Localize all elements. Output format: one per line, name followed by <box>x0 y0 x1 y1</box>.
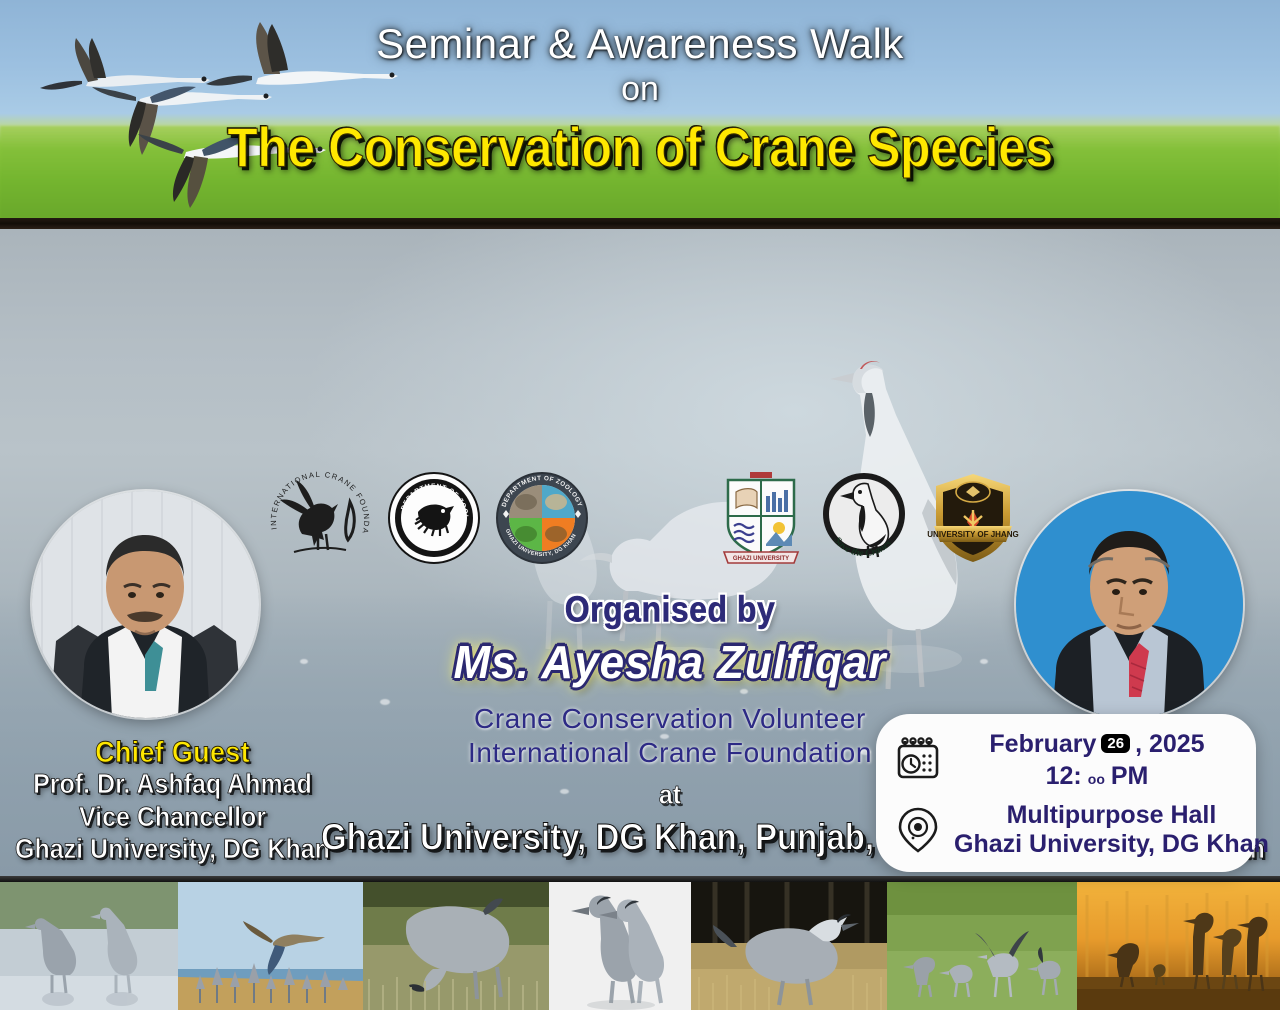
avatar-chief-guest <box>32 491 259 718</box>
page-title: The Conservation of Crane Species <box>0 115 1280 180</box>
event-year: , 2025 <box>1135 730 1205 759</box>
department-of-zoology-uoj-logo: DEPARTMENT OF ZOOLOGY UNIVERSITY OF JHAN… <box>388 472 480 564</box>
seminar-poster: Seminar & Awareness Walk on The Conserva… <box>0 0 1280 1010</box>
on-connector: on <box>0 70 1280 109</box>
event-month: February <box>989 730 1096 759</box>
header-text-group: Seminar & Awareness Walk on The Conserva… <box>0 22 1280 173</box>
event-date: February 26 , 2025 <box>954 730 1240 759</box>
event-time: 12: oo PM <box>954 762 1240 791</box>
event-time-meridiem: PM <box>1111 762 1149 791</box>
location-pin-icon <box>892 806 944 854</box>
venue-text: Multipurpose Hall Ghazi University, DG K… <box>954 801 1269 859</box>
header-divider <box>0 218 1280 229</box>
svg-text:UNIVERSITY OF JHANG: UNIVERSITY OF JHANG <box>927 530 1018 539</box>
venue-hall: Multipurpose Hall <box>954 801 1269 830</box>
department-of-zoology-gudgk-logo: DEPARTMENT OF ZOOLOGY GHAZI UNIVERSITY, … <box>496 472 588 564</box>
strip-photo <box>363 881 549 1010</box>
event-day-badge: 26 <box>1101 734 1130 754</box>
international-crane-foundation-logo: INTERNATIONAL CRANE FOUNDATION <box>268 468 372 568</box>
strip-photo <box>0 881 178 1010</box>
save-the-cranes-logo: Save the Cranes <box>818 470 910 566</box>
organiser-name: Ms. Ayesha Zulfiqar <box>290 637 1050 690</box>
avatar-guest <box>1016 491 1243 718</box>
ghazi-university-crest-logo: GHAZI UNIVERSITY <box>720 470 802 566</box>
event-details-card: February 26 , 2025 12: oo PM <box>876 714 1256 872</box>
date-time-text: February 26 , 2025 12: oo PM <box>954 730 1240 791</box>
strip-photo <box>691 881 887 1010</box>
logos-row: INTERNATIONAL CRANE FOUNDATION <box>268 465 1028 570</box>
calendar-clock-icon <box>892 737 944 783</box>
strip-photo <box>549 881 691 1010</box>
venue-institution: Ghazi University, DG Khan <box>954 830 1269 859</box>
date-time-row: February 26 , 2025 12: oo PM <box>892 730 1240 791</box>
header-banner: Seminar & Awareness Walk on The Conserva… <box>0 0 1280 218</box>
organised-by-label: Organised by <box>290 589 1050 630</box>
venue-row: Multipurpose Hall Ghazi University, DG K… <box>892 801 1240 859</box>
strip-photo <box>178 881 363 1010</box>
crane-photo-strip <box>0 881 1280 1010</box>
svg-text:GHAZI UNIVERSITY: GHAZI UNIVERSITY <box>733 556 789 562</box>
seminar-title: Seminar & Awareness Walk <box>0 22 1280 66</box>
strip-photo <box>887 881 1077 1010</box>
event-time-minute: oo <box>1088 771 1105 787</box>
strip-photo <box>1077 881 1280 1010</box>
university-of-jhang-logo: UNIVERSITY OF JHANG <box>926 470 1020 566</box>
strip-divider <box>0 876 1280 882</box>
event-time-hour: 12: <box>1046 762 1082 791</box>
